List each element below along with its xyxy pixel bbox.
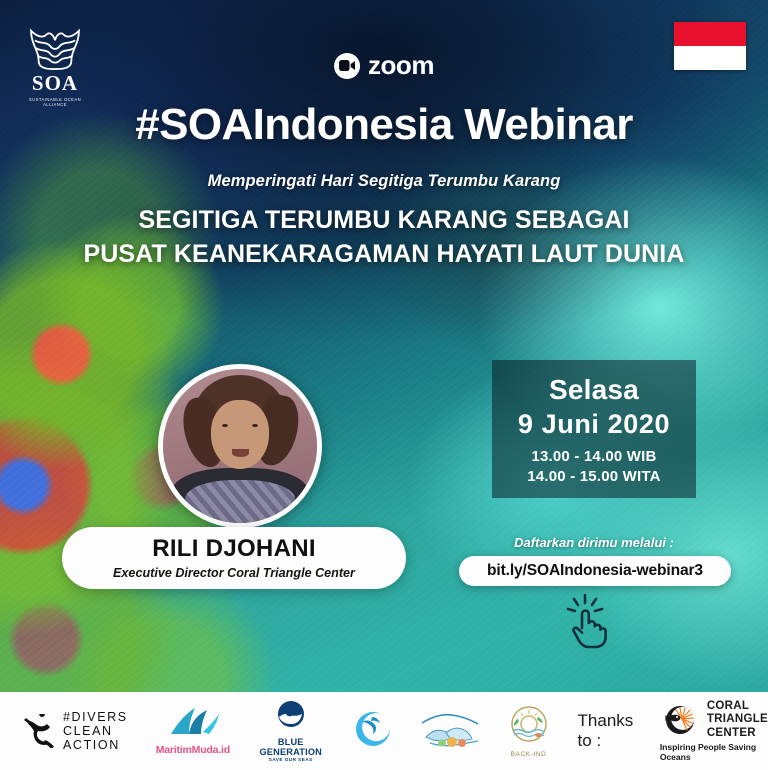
zoom-camera-icon <box>334 53 360 79</box>
ctc-tagline: Inspiring People Saving Oceans <box>660 742 768 762</box>
divers-line-1: #DIVERS <box>63 710 128 724</box>
footer-sponsor-bar: #DIVERS CLEAN ACTION MaritimMuda.id BLUE… <box>0 692 768 770</box>
page-title: #SOAIndonesia Webinar <box>0 100 768 150</box>
click-hand-icon <box>556 592 614 650</box>
flag-white-band <box>674 46 746 70</box>
partner-back-ind: BACK-IND <box>508 705 550 758</box>
portrait-smile <box>232 449 249 457</box>
partner-ocean-smile <box>416 709 484 754</box>
partner-divers-clean-action: #DIVERS CLEAN ACTION <box>22 710 128 752</box>
schedule-date: 9 Juni 2020 <box>518 409 670 440</box>
ctc-line-2: TRIANGLE <box>707 713 768 726</box>
soa-wave-logo-icon <box>26 25 84 71</box>
webinar-poster: SOA SUSTAINABLE OCEAN ALLIANCE zoom #SOA… <box>0 0 768 770</box>
ctc-line-3: CENTER <box>707 727 768 740</box>
partner-blue-generation-tagline: SAVE OUR SEAS <box>256 757 326 762</box>
subtitle-line-2: PUSAT KEANEKARAGAMAN HAYATI LAUT DUNIA <box>0 237 768 271</box>
zoom-logo: zoom <box>334 50 434 81</box>
schedule-day: Selasa <box>549 374 639 406</box>
register-label: Daftarkan dirimu melalui : <box>492 535 696 550</box>
back-ind-icon <box>508 705 550 745</box>
speaker-portrait-illustration <box>163 369 317 523</box>
partner-divers-label: #DIVERS CLEAN ACTION <box>63 710 128 752</box>
dolphin-wave-icon <box>352 708 394 750</box>
speaker-card: RILI DJOHANI Executive Director Coral Tr… <box>62 527 406 589</box>
partner-maritim-muda: MaritimMuda.id <box>156 706 230 756</box>
register-link-text: bit.ly/SOAIndonesia-webinar3 <box>487 562 703 580</box>
ocean-smile-icon <box>416 709 484 749</box>
portrait-scarf <box>185 480 296 523</box>
register-link-button[interactable]: bit.ly/SOAIndonesia-webinar3 <box>459 556 731 586</box>
partner-dolphin-logo <box>352 708 394 755</box>
ctc-name: CORAL TRIANGLE CENTER <box>707 700 768 739</box>
blue-generation-icon <box>274 700 308 732</box>
divers-line-2: CLEAN <box>63 724 128 738</box>
portrait-face <box>211 400 270 469</box>
indonesia-flag <box>674 22 746 70</box>
subtitle-line-1: SEGITIGA TERUMBU KARANG SEBAGAI <box>0 203 768 237</box>
soa-logo: SOA SUSTAINABLE OCEAN ALLIANCE <box>22 25 88 107</box>
schedule-time-wib: 13.00 - 14.00 WIB <box>531 448 656 465</box>
partner-blue-generation-title: BLUE GENERATION <box>256 737 326 757</box>
coral-triangle-center-icon <box>660 700 700 740</box>
thanks-label: Thanks to : <box>578 711 642 751</box>
scuba-diver-icon <box>22 714 58 748</box>
video-camera-glyph <box>339 60 355 71</box>
speaker-role: Executive Director Coral Triangle Center <box>113 566 355 580</box>
sponsor-coral-triangle-center: CORAL TRIANGLE CENTER Inspiring People S… <box>660 700 768 762</box>
hero-subtitle: SEGITIGA TERUMBU KARANG SEBAGAI PUSAT KE… <box>0 203 768 271</box>
divers-line-3: ACTION <box>63 738 128 752</box>
schedule-time-wita: 14.00 - 15.00 WITA <box>527 468 660 485</box>
speaker-name: RILI DJOHANI <box>152 536 316 562</box>
hero-tagline: Memperingati Hari Segitiga Terumbu Karan… <box>0 172 768 191</box>
maritim-muda-icon <box>165 706 221 738</box>
flag-red-band <box>674 22 746 46</box>
avatar <box>158 364 322 528</box>
partner-maritim-muda-label: MaritimMuda.id <box>156 744 230 756</box>
ctc-line-1: CORAL <box>707 700 768 713</box>
partner-back-ind-label: BACK-IND <box>508 751 550 758</box>
partner-blue-generation: BLUE GENERATION SAVE OUR SEAS <box>256 700 326 762</box>
ctc-logo-row: CORAL TRIANGLE CENTER <box>660 700 768 740</box>
schedule-panel: Selasa 9 Juni 2020 13.00 - 14.00 WIB 14.… <box>492 360 696 498</box>
zoom-wordmark: zoom <box>368 50 434 81</box>
soa-abbreviation: SOA <box>32 73 78 94</box>
